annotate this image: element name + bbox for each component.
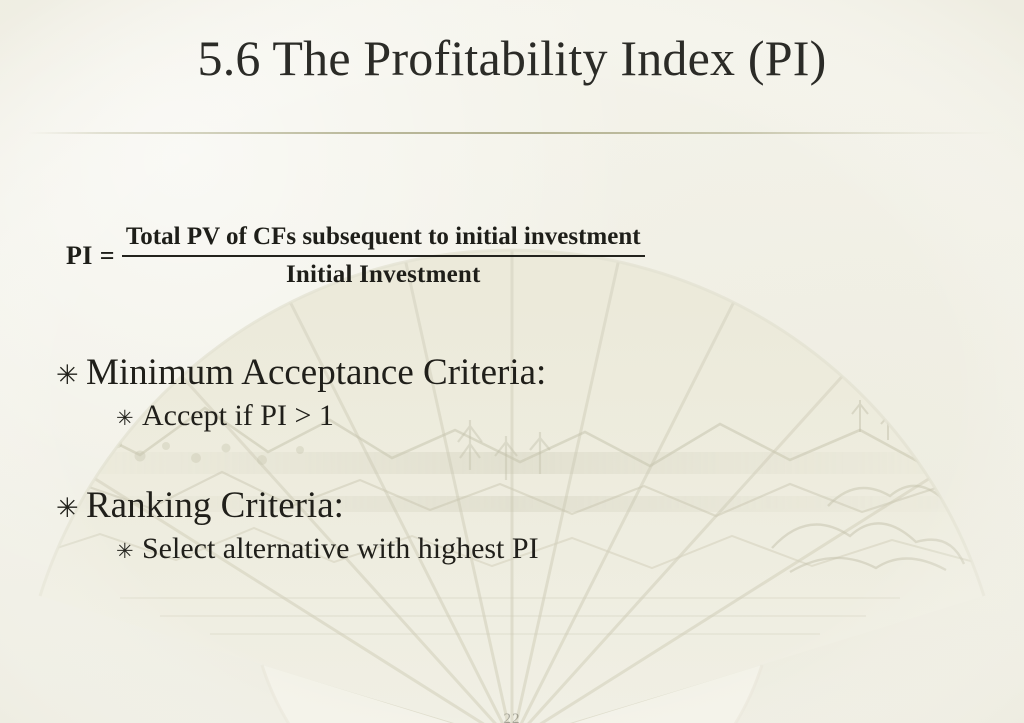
bullet-label-ranking-criteria: Ranking Criteria:: [86, 485, 344, 526]
asterisk-bullet-icon: ✳: [56, 495, 86, 522]
formula-left-hand-side: PI =: [66, 241, 122, 271]
title-block: 5.6 The Profitability Index (PI): [0, 32, 1024, 84]
bullet-group-spacer: [0, 433, 1024, 485]
fraction-bar: [122, 255, 645, 257]
sub-bullet-label-accept-if-pi: Accept if PI > 1: [142, 399, 334, 433]
bullet-group-ranking: ✳ Ranking Criteria: ✳ Select alternative…: [0, 485, 1024, 566]
asterisk-sub-bullet-icon: ✳: [116, 408, 142, 429]
slide-page-number: 22: [0, 711, 1024, 723]
formula-fraction: Total PV of CFs subsequent to initial in…: [122, 222, 645, 290]
formula-denominator: Initial Investment: [282, 260, 485, 291]
sub-bullet-item-select-highest-pi: ✳ Select alternative with highest PI: [0, 532, 1024, 566]
slide-body: ✳ Minimum Acceptance Criteria: ✳ Accept …: [0, 352, 1024, 566]
bullet-item-minimum-acceptance-criteria: ✳ Minimum Acceptance Criteria:: [0, 352, 1024, 393]
profitability-index-formula: PI = Total PV of CFs subsequent to initi…: [66, 222, 645, 290]
page-title: 5.6 The Profitability Index (PI): [0, 32, 1024, 84]
title-divider: [28, 132, 996, 134]
bullet-item-ranking-criteria: ✳ Ranking Criteria:: [0, 485, 1024, 526]
bullet-group-acceptance: ✳ Minimum Acceptance Criteria: ✳ Accept …: [0, 352, 1024, 433]
sub-bullet-item-accept-if-pi: ✳ Accept if PI > 1: [0, 399, 1024, 433]
sub-bullet-label-select-highest-pi: Select alternative with highest PI: [142, 532, 539, 566]
formula-numerator: Total PV of CFs subsequent to initial in…: [122, 222, 645, 253]
slide-canvas: 5.6 The Profitability Index (PI) PI = To…: [0, 0, 1024, 723]
bullet-label-minimum-acceptance-criteria: Minimum Acceptance Criteria:: [86, 352, 546, 393]
asterisk-sub-bullet-icon: ✳: [116, 541, 142, 562]
asterisk-bullet-icon: ✳: [56, 362, 86, 389]
